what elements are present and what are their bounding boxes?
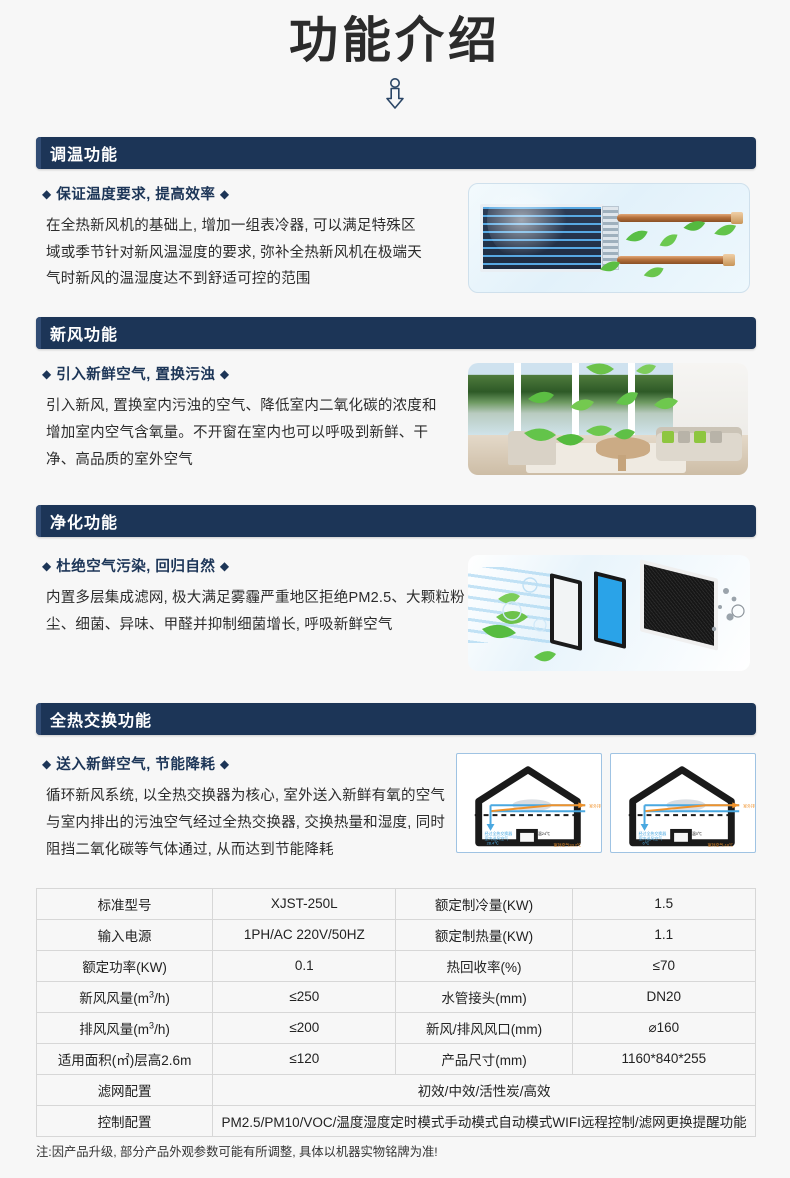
diamond-icon-right: ◆ xyxy=(220,559,230,573)
spec-value: 0.1 xyxy=(213,950,396,981)
diamond-icon-right: ◆ xyxy=(220,187,230,201)
diamond-icon-left: ◆ xyxy=(42,757,52,771)
table-row: 滤网配置 初效/中效/活性炭/高效 xyxy=(37,1074,756,1105)
svg-text:室温24℃: 室温24℃ xyxy=(534,831,550,836)
table-row: 适用面积(㎡)层高2.6m ≤120 产品尺寸(mm) 1160*840*255 xyxy=(37,1043,756,1074)
table-row: 新风风量(m3/h) ≤250 水管接头(mm) DN20 xyxy=(37,981,756,1012)
spec-value: ≤70 xyxy=(572,950,755,981)
spec-key-prefix: 排风风量(m xyxy=(79,1022,149,1037)
spec-key-prefix: 新风风量(m xyxy=(79,991,149,1006)
section-paragraph-fresh-air: 引入新风, 置换室内污浊的空气、降低室内二氧化碳的浓度和增加室内空气含氧量。不开… xyxy=(36,393,448,473)
spec-value: 1.1 xyxy=(572,919,755,950)
spec-value: ⌀160 xyxy=(572,1012,755,1043)
svg-text:室外排风30℃: 室外排风30℃ xyxy=(589,803,601,808)
spec-key: 额定功率(KW) xyxy=(37,950,213,981)
spec-key: 适用面积(㎡)层高2.6m xyxy=(37,1043,213,1074)
spec-value: ≤250 xyxy=(213,981,396,1012)
spec-value: DN20 xyxy=(572,981,755,1012)
spec-value: 初效/中效/活性炭/高效 xyxy=(213,1074,756,1105)
filter-stack-illustration xyxy=(468,555,750,671)
section-heat-exchange: 全热交换功能 ◆ 送入新鲜空气, 节能降耗 ◆ 循环新风系统, 以全热交换器为核… xyxy=(0,703,790,863)
diamond-icon-right: ◆ xyxy=(220,757,230,771)
spec-key: 产品尺寸(mm) xyxy=(396,1043,572,1074)
table-row: 标准型号 XJST-250L 额定制冷量(KW) 1.5 xyxy=(37,888,756,919)
svg-text:室外空气-10℃: 室外空气-10℃ xyxy=(708,843,733,848)
spec-key: 额定制冷量(KW) xyxy=(396,888,572,919)
section-subtitle-temperature: ◆ 保证温度要求, 提高效率 ◆ xyxy=(36,183,468,204)
spec-table: 标准型号 XJST-250L 额定制冷量(KW) 1.5 输入电源 1PH/AC… xyxy=(36,888,756,1137)
section-paragraph-heat-exchange: 循环新风系统, 以全热交换器为核心, 室外送入新鲜有氧的空气与室内排出的污浊空气… xyxy=(36,783,454,863)
spec-value: ≤120 xyxy=(213,1043,396,1074)
living-room-illustration xyxy=(468,363,748,475)
section-subtitle-purification: ◆ 杜绝空气污染, 回归自然 ◆ xyxy=(36,555,468,576)
page-title: 功能介绍 xyxy=(0,0,790,111)
spec-key-suffix: /h) xyxy=(154,1022,170,1037)
spec-key: 控制配置 xyxy=(37,1105,213,1136)
spec-key: 水管接头(mm) xyxy=(396,981,572,1012)
house-diagram-summer: 室外排风30℃ 经过全热交换器 室内送风空气 28.4℃ 室温24℃ 室外空气3… xyxy=(456,753,602,853)
section-paragraph-purification: 内置多层集成滤网, 极大满足雾霾严重地区拒绝PM2.5、大颗粒粉尘、细菌、异味、… xyxy=(36,585,466,639)
spec-key: 新风/排风风口(mm) xyxy=(396,1012,572,1043)
subtitle-text: 保证温度要求, 提高效率 xyxy=(56,187,215,203)
spec-key: 输入电源 xyxy=(37,919,213,950)
spec-value: ≤200 xyxy=(213,1012,396,1043)
spec-key-suffix: /h) xyxy=(154,991,170,1006)
house-diagram-winter: 室外排风-3℃ 经过全热交换器 室内送风空气 6℃ 室温0℃ 室外空气-10℃ xyxy=(610,753,756,853)
svg-text:室温0℃: 室温0℃ xyxy=(688,831,702,836)
section-title-fresh-air: 新风功能 xyxy=(50,321,118,345)
section-subtitle-fresh-air: ◆ 引入新鲜空气, 置换污浊 ◆ xyxy=(36,363,468,384)
cooling-coil-illustration xyxy=(468,183,750,293)
section-purification: 净化功能 ◆ 杜绝空气污染, 回归自然 ◆ 内置多层集成滤网, 极大满足雾霾严重… xyxy=(0,505,790,671)
spec-value: PM2.5/PM10/VOC/温度湿度定时模式手动模式自动模式WIFI远程控制/… xyxy=(213,1105,756,1136)
table-row: 控制配置 PM2.5/PM10/VOC/温度湿度定时模式手动模式自动模式WIFI… xyxy=(37,1105,756,1136)
table-row: 额定功率(KW) 0.1 热回收率(%) ≤70 xyxy=(37,950,756,981)
spec-key: 排风风量(m3/h) xyxy=(37,1012,213,1043)
subtitle-text: 杜绝空气污染, 回归自然 xyxy=(56,559,215,575)
spec-table-container: 标准型号 XJST-250L 额定制冷量(KW) 1.5 输入电源 1PH/AC… xyxy=(0,888,790,1137)
spec-value: 1.5 xyxy=(572,888,755,919)
section-header-bar-temperature: 调温功能 xyxy=(36,137,756,169)
section-title-temperature: 调温功能 xyxy=(50,141,118,165)
section-temperature: 调温功能 ◆ 保证温度要求, 提高效率 ◆ 在全热新风机的基础上, 增加一组表冷… xyxy=(0,137,790,293)
spec-value: XJST-250L xyxy=(213,888,396,919)
diamond-icon-left: ◆ xyxy=(42,559,52,573)
section-title-heat-exchange: 全热交换功能 xyxy=(50,707,152,731)
spec-table-body: 标准型号 XJST-250L 额定制冷量(KW) 1.5 输入电源 1PH/AC… xyxy=(37,888,756,1136)
house-diagram-svg: 室外排风30℃ 经过全热交换器 室内送风空气 28.4℃ 室温24℃ 室外空气3… xyxy=(457,754,601,853)
house-diagram-svg: 室外排风-3℃ 经过全热交换器 室内送风空气 6℃ 室温0℃ 室外空气-10℃ xyxy=(611,754,755,853)
diamond-icon-left: ◆ xyxy=(42,187,52,201)
spec-value: 1PH/AC 220V/50HZ xyxy=(213,919,396,950)
down-arrow-pin-icon xyxy=(382,77,408,111)
spec-key: 滤网配置 xyxy=(37,1074,213,1105)
spec-key: 热回收率(%) xyxy=(396,950,572,981)
section-header-bar-purification: 净化功能 xyxy=(36,505,756,537)
spec-note: 注:因产品升级, 部分产品外观参数可能有所调整, 具体以机器实物铭牌为准! xyxy=(0,1137,790,1160)
svg-text:室外空气33.2℃: 室外空气33.2℃ xyxy=(554,843,581,848)
subtitle-text: 送入新鲜空气, 节能降耗 xyxy=(56,757,215,773)
diamond-icon-left: ◆ xyxy=(42,367,52,381)
table-row: 排风风量(m3/h) ≤200 新风/排风风口(mm) ⌀160 xyxy=(37,1012,756,1043)
airflow-swoosh xyxy=(487,183,573,262)
page-title-text: 功能介绍 xyxy=(0,0,790,71)
filter-leaves-and-particles xyxy=(468,555,750,671)
spec-value: 1160*840*255 xyxy=(572,1043,755,1074)
table-row: 输入电源 1PH/AC 220V/50HZ 额定制热量(KW) 1.1 xyxy=(37,919,756,950)
section-paragraph-temperature: 在全热新风机的基础上, 增加一组表冷器, 可以满足特殊区域或季节针对新风温湿度的… xyxy=(36,213,428,293)
svg-text:28.4℃: 28.4℃ xyxy=(487,841,500,846)
section-header-bar-fresh-air: 新风功能 xyxy=(36,317,756,349)
section-subtitle-heat-exchange: ◆ 送入新鲜空气, 节能降耗 ◆ xyxy=(36,753,456,774)
spec-key: 标准型号 xyxy=(37,888,213,919)
house-heat-exchange-diagrams: 室外排风30℃ 经过全热交换器 室内送风空气 28.4℃ 室温24℃ 室外空气3… xyxy=(456,753,756,853)
section-title-purification: 净化功能 xyxy=(50,509,118,533)
spec-key: 额定制热量(KW) xyxy=(396,919,572,950)
spec-key: 新风风量(m3/h) xyxy=(37,981,213,1012)
subtitle-text: 引入新鲜空气, 置换污浊 xyxy=(56,367,215,383)
green-leaves-group xyxy=(468,363,748,475)
diamond-icon-right: ◆ xyxy=(220,367,230,381)
svg-text:6℃: 6℃ xyxy=(643,841,650,846)
section-fresh-air: 新风功能 ◆ 引入新鲜空气, 置换污浊 ◆ 引入新风, 置换室内污浊的空气、降低… xyxy=(0,317,790,475)
svg-text:室外排风-3℃: 室外排风-3℃ xyxy=(743,803,755,808)
section-header-bar-heat-exchange: 全热交换功能 xyxy=(36,703,756,735)
